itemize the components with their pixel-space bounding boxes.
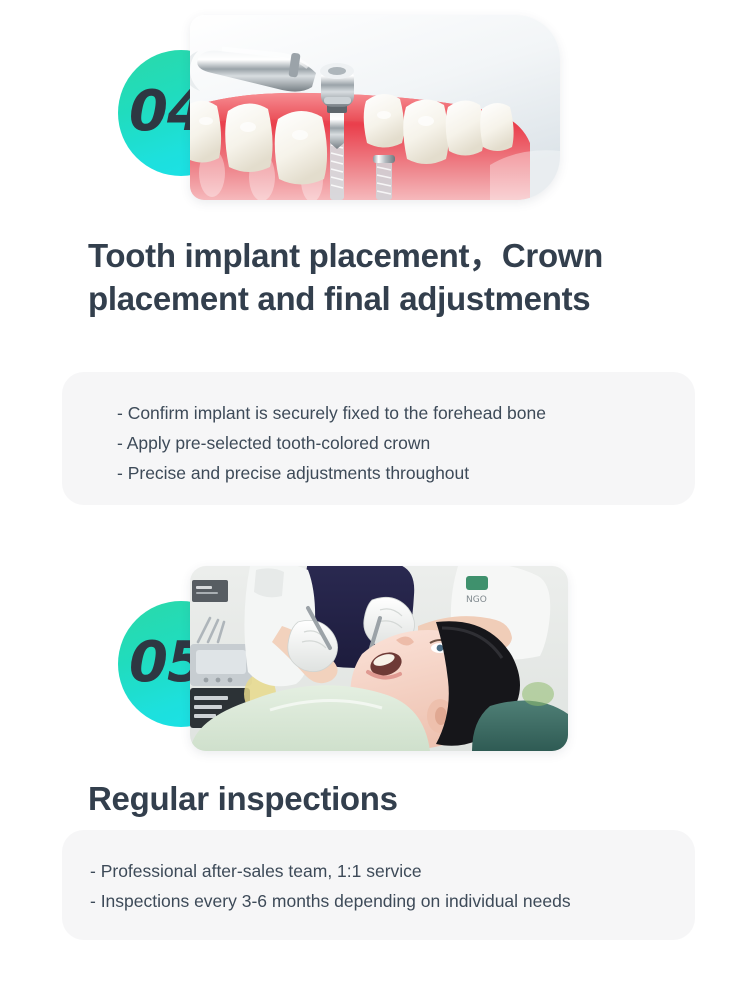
dental-checkup-photo: NGO (190, 566, 568, 751)
bullet-item: - Apply pre-selected tooth-colored crown (117, 428, 669, 458)
step-card-04: 04 (0, 0, 750, 321)
step-05-heading: Regular inspections (0, 756, 750, 821)
dental-implant-illustration (190, 15, 560, 200)
step-05-image: NGO (190, 566, 568, 751)
steps-page: 04 (0, 0, 750, 981)
bullet-item: - Inspections every 3-6 months depending… (90, 886, 669, 916)
bullet-item: - Professional after-sales team, 1:1 ser… (90, 856, 669, 886)
step-04-image (190, 15, 560, 200)
bullet-item: - Precise and precise adjustments throug… (117, 458, 669, 488)
step-05-bullet-box: - Professional after-sales team, 1:1 ser… (62, 830, 695, 940)
step-04-bullet-box: - Confirm implant is securely fixed to t… (62, 372, 695, 505)
svg-text:NGO: NGO (466, 595, 487, 605)
step-card-05: 05 (0, 551, 750, 821)
step-04-heading: Tooth implant placement，Crown placement … (0, 205, 750, 321)
step-05-media: 05 (0, 551, 750, 756)
step-04-media: 04 (0, 0, 750, 205)
bullet-item: - Confirm implant is securely fixed to t… (117, 398, 669, 428)
